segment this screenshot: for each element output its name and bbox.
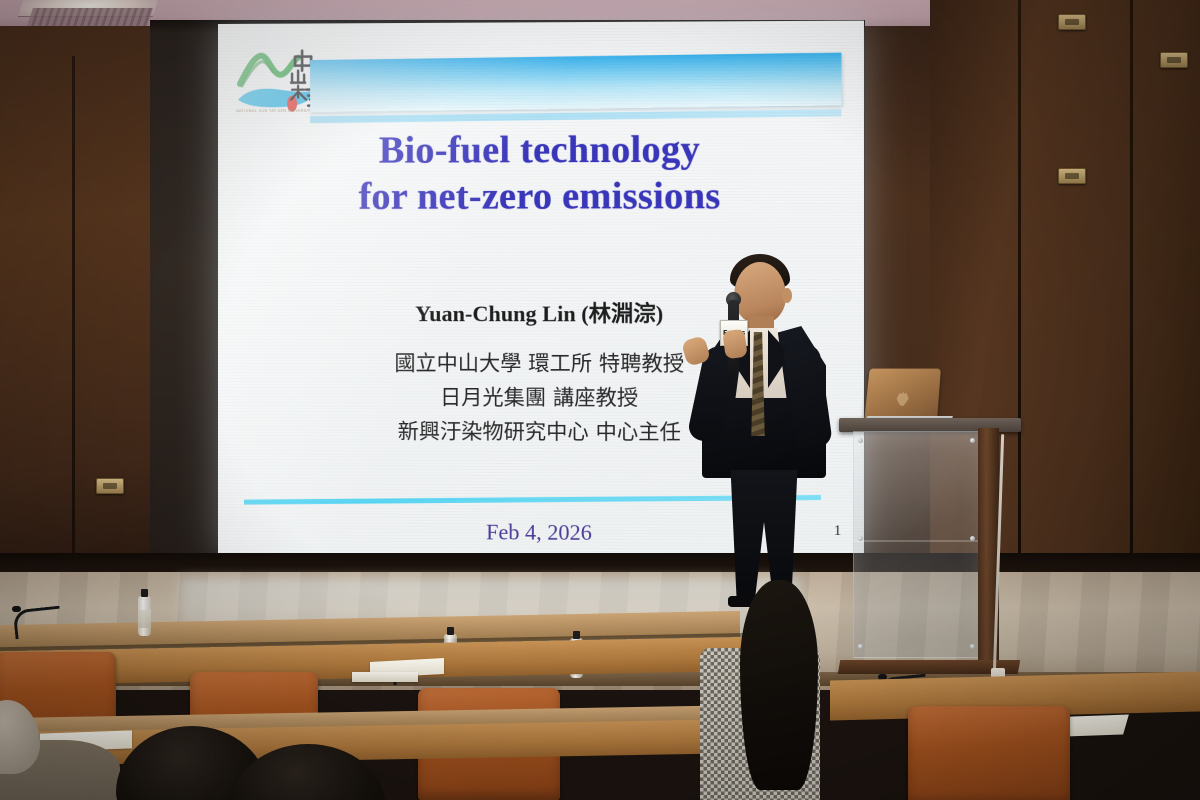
microphone-head-icon	[12, 606, 21, 612]
panel-bolt	[970, 438, 975, 443]
wall-plate-lower	[1058, 168, 1086, 184]
lectern-front-panel	[853, 431, 981, 658]
bottle-label	[138, 610, 151, 628]
slide-title-line-2: for net-zero emissions	[218, 173, 864, 220]
speaker-ear	[782, 288, 792, 303]
speaker-hand-holding-mic	[722, 329, 748, 360]
lecture-hall-photo: NATIONAL SUN YAT-SEN UNIVERSITY Bio-fuel…	[0, 0, 1200, 800]
auditorium-chair[interactable]	[908, 706, 1070, 800]
name-card	[352, 672, 418, 682]
lectern[interactable]	[845, 418, 1015, 678]
panel-bolt	[970, 536, 975, 541]
apple-logo-icon	[896, 392, 909, 406]
water-bottle[interactable]	[138, 596, 151, 636]
wall-outlet-plate	[96, 478, 124, 494]
wall-plate-upper	[1058, 14, 1086, 30]
attendee-woman-hair	[740, 580, 818, 790]
speaker-trousers	[726, 470, 802, 600]
slide-title-line-1: Bio-fuel technology	[218, 126, 864, 174]
wall-seam	[72, 56, 75, 596]
laptop-lid[interactable]	[864, 369, 941, 420]
slide-header-banner	[310, 53, 841, 113]
speaker-person: FocUs	[672, 252, 852, 592]
panel-bolt	[858, 536, 863, 541]
speaker-head	[734, 262, 786, 324]
ceiling-light-grill-icon	[27, 8, 153, 26]
panel-bolt	[858, 644, 863, 649]
panel-bolt	[858, 438, 863, 443]
wall-seam	[1130, 0, 1133, 590]
panel-bolt	[970, 644, 975, 649]
slide-title: Bio-fuel technology for net-zero emissio…	[218, 126, 864, 220]
wall-seam	[1018, 0, 1021, 590]
slide-header-underline	[310, 109, 841, 123]
wall-plate-far	[1160, 52, 1188, 68]
svg-text:NATIONAL SUN YAT-SEN UNIVERSIT: NATIONAL SUN YAT-SEN UNIVERSITY	[236, 109, 314, 113]
